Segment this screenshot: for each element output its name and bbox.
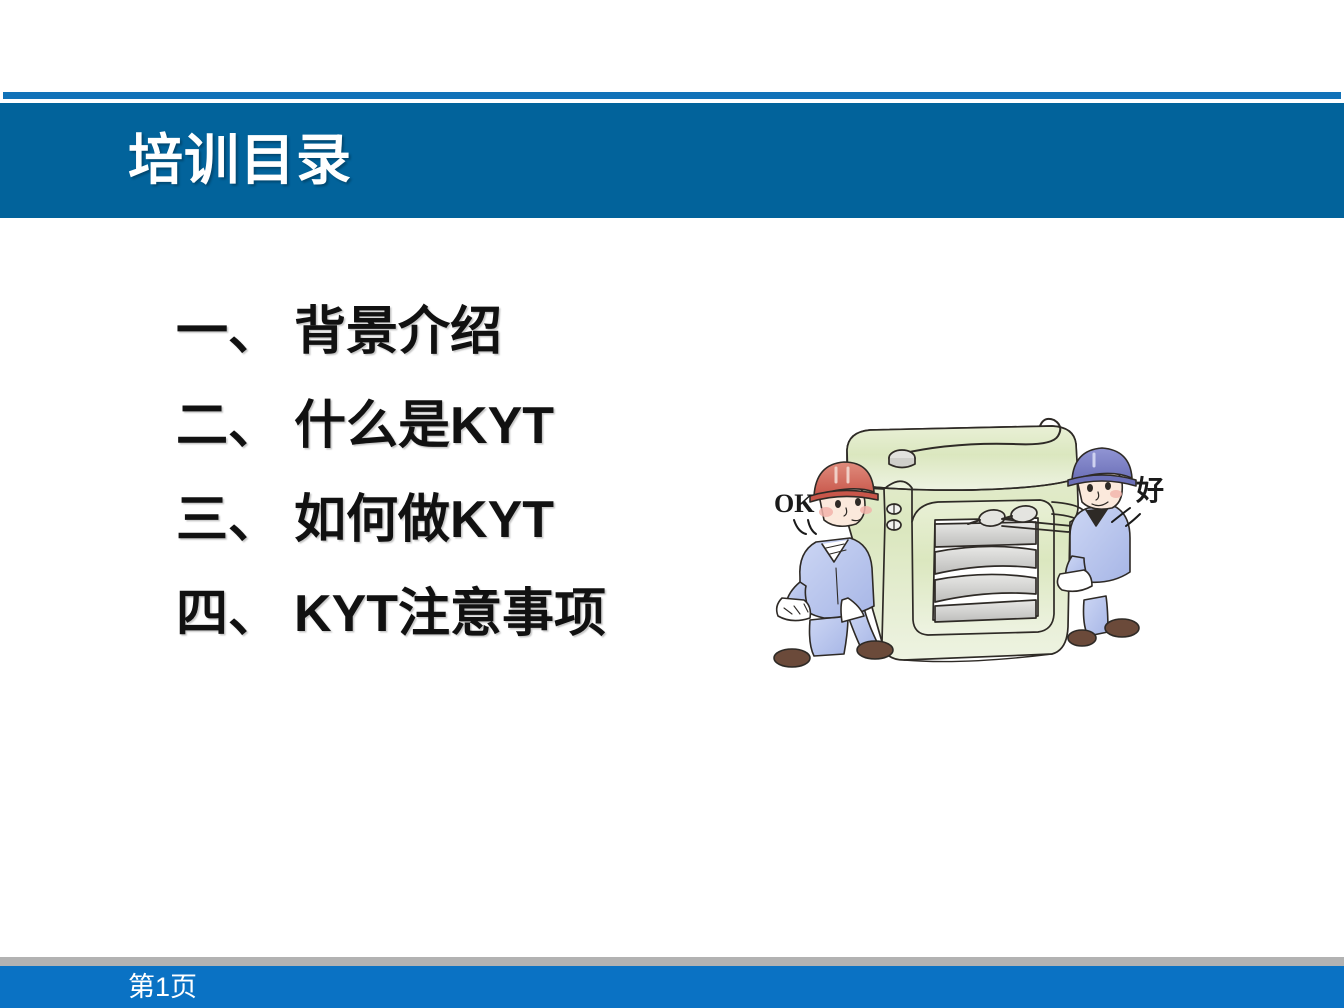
page-title: 培训目录 bbox=[128, 133, 352, 188]
agenda-item-3-number: 三、 bbox=[176, 494, 280, 546]
agenda-item-1-number: 一、 bbox=[176, 306, 280, 358]
agenda-item-2-number: 二、 bbox=[176, 400, 280, 452]
agenda-item-4[interactable]: 四、KYT注意事项 bbox=[176, 588, 796, 682]
footer-divider bbox=[0, 957, 1344, 966]
agenda-item-1[interactable]: 一、背景介绍 bbox=[176, 306, 796, 400]
slide-canvas: 培训目录 一、背景介绍 二、什么是KYT 三、如何做KYT 四、KYT注意事项 bbox=[0, 0, 1344, 1008]
footer-band bbox=[0, 966, 1344, 1008]
agenda-item-4-label: KYT注意事项 bbox=[294, 588, 606, 640]
press-machine-illustration: OK 好 bbox=[752, 392, 1192, 692]
callout-right-text: 好 bbox=[1135, 475, 1164, 507]
header-accent-rule bbox=[3, 92, 1341, 99]
agenda-item-3-label: 如何做KYT bbox=[294, 494, 554, 546]
agenda-item-3[interactable]: 三、如何做KYT bbox=[176, 494, 796, 588]
agenda-item-4-number: 四、 bbox=[176, 588, 280, 640]
agenda-item-2-label: 什么是KYT bbox=[294, 400, 554, 452]
page-number: 第1页 bbox=[128, 970, 197, 1004]
agenda-list: 一、背景介绍 二、什么是KYT 三、如何做KYT 四、KYT注意事项 bbox=[176, 306, 796, 682]
agenda-item-2[interactable]: 二、什么是KYT bbox=[176, 400, 796, 494]
callout-left-text: OK bbox=[774, 489, 815, 518]
agenda-item-1-label: 背景介绍 bbox=[294, 306, 502, 358]
